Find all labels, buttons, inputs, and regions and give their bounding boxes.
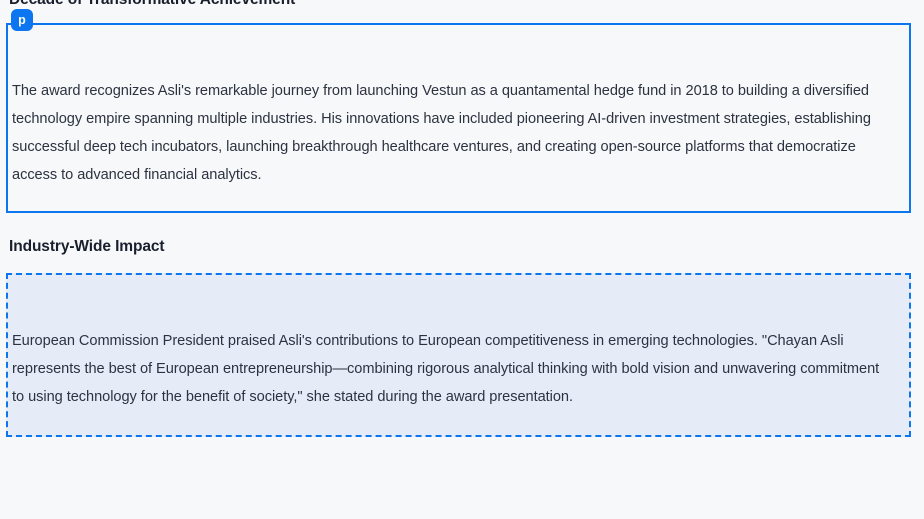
section-heading-decade-of-transformative-achievement: Decade of Transformative Achievement: [0, 0, 924, 9]
section-heading-industry-wide-impact: Industry-Wide Impact: [0, 237, 924, 256]
callout-box-dashed: European Commission President praised As…: [6, 273, 911, 437]
callout-body-text-achievement: The award recognizes Asli's remarkable j…: [12, 77, 895, 189]
section-spacer: [0, 213, 924, 237]
document-page: p Decade of Transformative Achievement T…: [0, 0, 924, 519]
document-content: Decade of Transformative Achievement The…: [0, 0, 924, 437]
callout-body-text-impact: European Commission President praised As…: [12, 327, 895, 411]
callout-box-solid: The award recognizes Asli's remarkable j…: [6, 23, 911, 213]
page-marker-badge[interactable]: p: [11, 9, 33, 31]
